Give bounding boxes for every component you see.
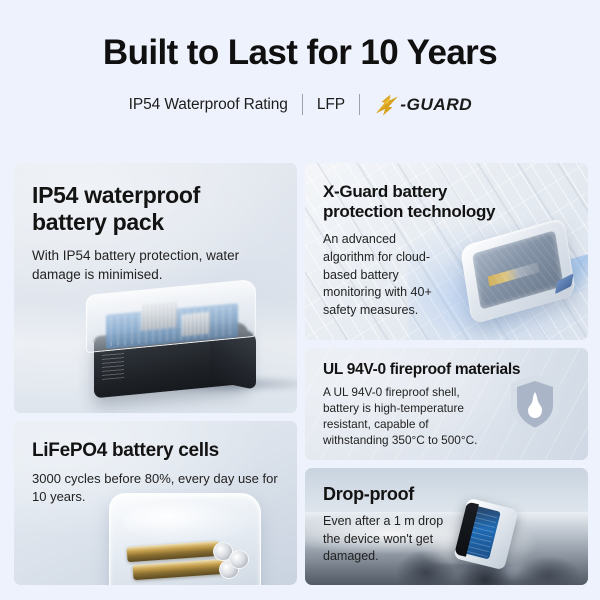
card-drop-proof[interactable]: Drop-proof Even after a 1 m drop the dev…	[305, 468, 588, 585]
card-ip54-waterproof[interactable]: IP54 waterproof battery pack With IP54 b…	[14, 163, 297, 413]
card-drop-proof-title: Drop-proof	[323, 484, 570, 505]
badge-ip54-rating: IP54 Waterproof Rating	[129, 96, 288, 114]
badge-divider	[302, 94, 303, 115]
x-guard-logo: -GUARD	[374, 92, 471, 118]
header-badge-row: IP54 Waterproof Rating LFP -GUARD	[0, 92, 600, 118]
page-root: Built to Last for 10 Years IP54 Waterpro…	[0, 0, 600, 600]
card-ul94v0-description: A UL 94V-0 fireproof shell, battery is h…	[323, 385, 491, 449]
battery-pack-illustration	[86, 279, 256, 391]
card-x-guard-title: X-Guard battery protection technology	[323, 182, 505, 222]
card-x-guard-description: An advanced algorithm for cloud-based ba…	[323, 231, 448, 320]
x-guard-wordmark: -GUARD	[400, 95, 472, 115]
badge-divider	[359, 94, 360, 115]
card-ul94v0-title: UL 94V-0 fireproof materials	[323, 361, 570, 379]
card-lifepo4-cells[interactable]: LiFePO4 battery cells 3000 cycles before…	[14, 421, 297, 585]
cell-housing-illustration	[109, 493, 261, 585]
card-ip54-title: IP54 waterproof battery pack	[32, 182, 279, 236]
card-x-guard-technology[interactable]: X-Guard battery protection technology An…	[305, 163, 588, 340]
card-lifepo4-body: LiFePO4 battery cells 3000 cycles before…	[14, 421, 297, 506]
header: Built to Last for 10 Years IP54 Waterpro…	[0, 0, 600, 118]
card-lifepo4-description: 3000 cycles before 80%, every day use fo…	[32, 470, 279, 506]
page-title: Built to Last for 10 Years	[0, 34, 600, 73]
card-drop-proof-body: Drop-proof Even after a 1 m drop the dev…	[305, 468, 588, 566]
card-ul94v0-body: UL 94V-0 fireproof materials A UL 94V-0 …	[305, 348, 588, 449]
card-ip54-description: With IP54 battery protection, water dama…	[32, 247, 264, 284]
right-column: X-Guard battery protection technology An…	[305, 163, 588, 585]
card-x-guard-body: X-Guard battery protection technology An…	[305, 163, 588, 320]
left-column: IP54 waterproof battery pack With IP54 b…	[14, 163, 297, 585]
badge-lfp: LFP	[317, 96, 345, 114]
card-ip54-body: IP54 waterproof battery pack With IP54 b…	[14, 163, 297, 285]
card-drop-proof-description: Even after a 1 m drop the device won't g…	[323, 513, 453, 566]
card-lifepo4-title: LiFePO4 battery cells	[32, 440, 279, 462]
x-bolt-icon	[374, 93, 400, 117]
feature-card-grid: IP54 waterproof battery pack With IP54 b…	[14, 163, 588, 585]
card-ul94v0-fireproof[interactable]: UL 94V-0 fireproof materials A UL 94V-0 …	[305, 348, 588, 460]
